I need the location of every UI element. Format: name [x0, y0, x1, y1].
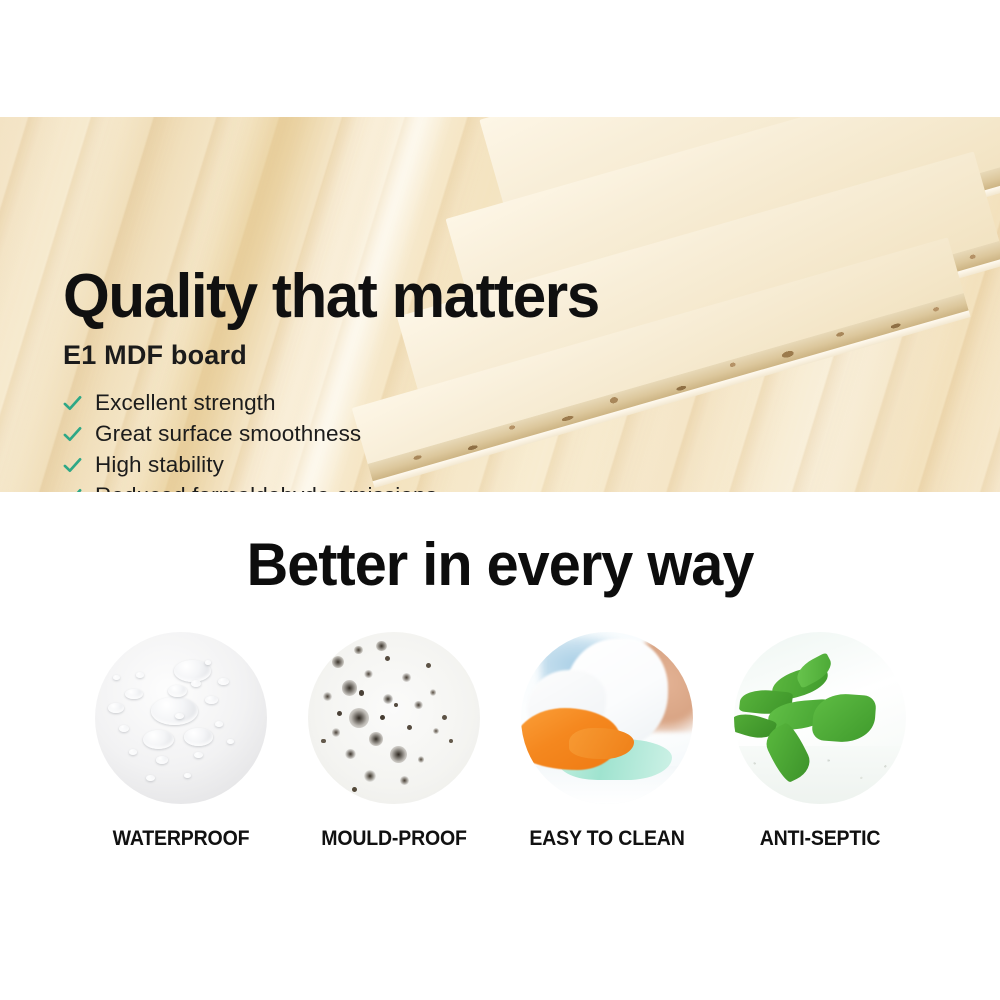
list-item: Great surface smoothness: [63, 418, 703, 449]
page-title: Quality that matters: [63, 265, 684, 328]
green-leaves-icon: [734, 632, 906, 804]
check-icon: [63, 393, 82, 412]
banner-text-block: Quality that matters E1 MDF board Excell…: [63, 265, 703, 492]
mould-spores-icon: [308, 632, 480, 804]
benefit-easy-to-clean: EASY TO CLEAN: [521, 632, 693, 851]
benefit-label: EASY TO CLEAN: [527, 827, 687, 851]
feature-bullet-list: Excellent strength Great surface smoothn…: [63, 387, 703, 492]
benefit-label: MOULD-PROOF: [314, 827, 474, 851]
benefits-heading: Better in every way: [20, 530, 980, 599]
list-item-label: Great surface smoothness: [95, 421, 361, 447]
list-item-label: Reduced formaldehyde emissions: [95, 483, 437, 492]
benefit-anti-septic: ANTI-SEPTIC: [734, 632, 906, 851]
benefit-mould-proof: MOULD-PROOF: [308, 632, 480, 851]
banner-subtitle: E1 MDF board: [63, 340, 703, 371]
benefits-row: WATERPROOF: [0, 632, 1000, 851]
check-icon: [63, 455, 82, 474]
benefit-label: ANTI-SEPTIC: [740, 827, 900, 851]
benefits-section: Better in every way: [0, 492, 1000, 1000]
benefit-waterproof: WATERPROOF: [95, 632, 267, 851]
list-item: Reduced formaldehyde emissions: [63, 480, 703, 492]
list-item: Excellent strength: [63, 387, 703, 418]
wood-banner: Quality that matters E1 MDF board Excell…: [0, 117, 1000, 492]
list-item-label: Excellent strength: [95, 390, 276, 416]
gloved-hand-wiping-icon: [521, 632, 693, 804]
check-icon: [63, 424, 82, 443]
list-item-label: High stability: [95, 452, 224, 478]
benefit-label: WATERPROOF: [101, 827, 261, 851]
water-droplets-icon: [95, 632, 267, 804]
list-item: High stability: [63, 449, 703, 480]
